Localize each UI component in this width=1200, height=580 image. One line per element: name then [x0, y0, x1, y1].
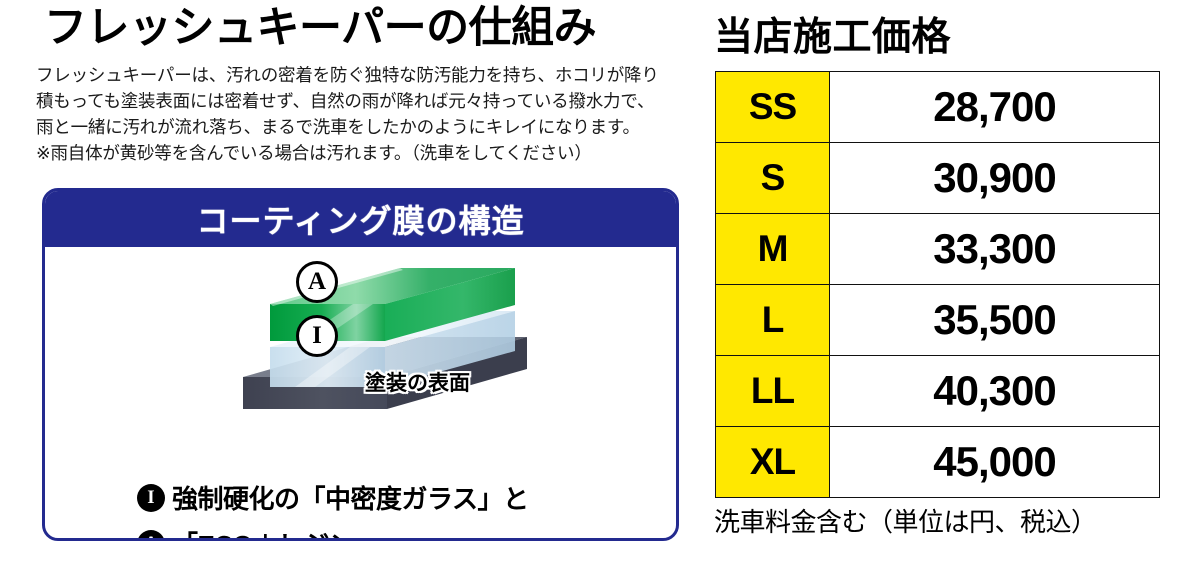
- legend-item-i: I 強制硬化の「中密度ガラス」と: [137, 479, 528, 516]
- table-row: LL 40,300: [716, 356, 1160, 427]
- price-cell: 30,900: [830, 143, 1160, 214]
- coating-structure-panel: コーティング膜の構造: [42, 188, 679, 541]
- callout-badge-i: I: [296, 315, 338, 357]
- panel-header-title: コーティング膜の構造: [196, 196, 524, 242]
- description-line-2: 積もっても塗装表面には密着せず、自然の雨が降れば元々持っている撥水力で、: [36, 88, 686, 114]
- page-title: フレッシュキーパーの仕組み: [44, 4, 596, 53]
- price-cell: 40,300: [830, 356, 1160, 427]
- legend-badge-i-icon: I: [137, 484, 165, 512]
- legend-label-i: 強制硬化の「中密度ガラス」と: [172, 479, 528, 516]
- poster-root: フレッシュキーパーの仕組み フレッシュキーパーは、汚れの密着を防ぐ独特な防汚能力…: [0, 0, 1200, 580]
- table-row: S 30,900: [716, 143, 1160, 214]
- description-line-1: フレッシュキーパーは、汚れの密着を防ぐ独特な防汚能力を持ち、ホコリが降り: [36, 62, 686, 88]
- left-column: フレッシュキーパーの仕組み フレッシュキーパーは、汚れの密着を防ぐ独特な防汚能力…: [0, 0, 700, 580]
- table-row: L 35,500: [716, 285, 1160, 356]
- surface-label: 塗装の表面: [365, 367, 470, 397]
- size-cell: M: [716, 214, 830, 285]
- coating-layers-diagram: [175, 259, 535, 429]
- size-cell: S: [716, 143, 830, 214]
- legend-item-a: A 「ECO＋レジン」: [137, 525, 528, 541]
- table-row: SS 28,700: [716, 72, 1160, 143]
- size-cell: SS: [716, 72, 830, 143]
- description-line-4: ※雨自体が黄砂等を含んでいる場合は汚れます。（洗車をしてください）: [36, 140, 686, 166]
- panel-header: コーティング膜の構造: [45, 191, 676, 247]
- description-line-3: 雨と一緒に汚れが流れ落ち、まるで洗車をしたかのようにキレイになります。: [36, 114, 686, 140]
- description-block: フレッシュキーパーは、汚れの密着を防ぐ独特な防汚能力を持ち、ホコリが降り 積もっ…: [36, 62, 686, 166]
- price-cell: 28,700: [830, 72, 1160, 143]
- price-table-body: SS 28,700 S 30,900 M 33,300 L 35,500 LL: [716, 72, 1160, 498]
- legend-badge-a-icon: A: [137, 530, 165, 542]
- price-cell: 35,500: [830, 285, 1160, 356]
- price-table-title: 当店施工価格: [714, 6, 951, 62]
- size-cell: XL: [716, 427, 830, 498]
- size-cell: L: [716, 285, 830, 356]
- callout-badge-a: A: [296, 261, 338, 303]
- legend-label-a: 「ECO＋レジン」: [172, 525, 380, 541]
- size-cell: LL: [716, 356, 830, 427]
- table-row: M 33,300: [716, 214, 1160, 285]
- table-row: XL 45,000: [716, 427, 1160, 498]
- price-table: SS 28,700 S 30,900 M 33,300 L 35,500 LL: [715, 71, 1160, 498]
- layer-legend: I 強制硬化の「中密度ガラス」と A 「ECO＋レジン」: [137, 479, 528, 541]
- layer-stack-svg: [175, 259, 535, 439]
- price-cell: 45,000: [830, 427, 1160, 498]
- price-note: 洗車料金含む（単位は円、税込）: [714, 502, 1097, 539]
- right-column: 当店施工価格 SS 28,700 S 30,900 M 33,300 L 35,…: [700, 0, 1200, 580]
- panel-body: A I 塗装の表面 I 強制硬化の「中密度ガラス」と A 「ECO＋レジン」: [45, 247, 676, 541]
- price-cell: 33,300: [830, 214, 1160, 285]
